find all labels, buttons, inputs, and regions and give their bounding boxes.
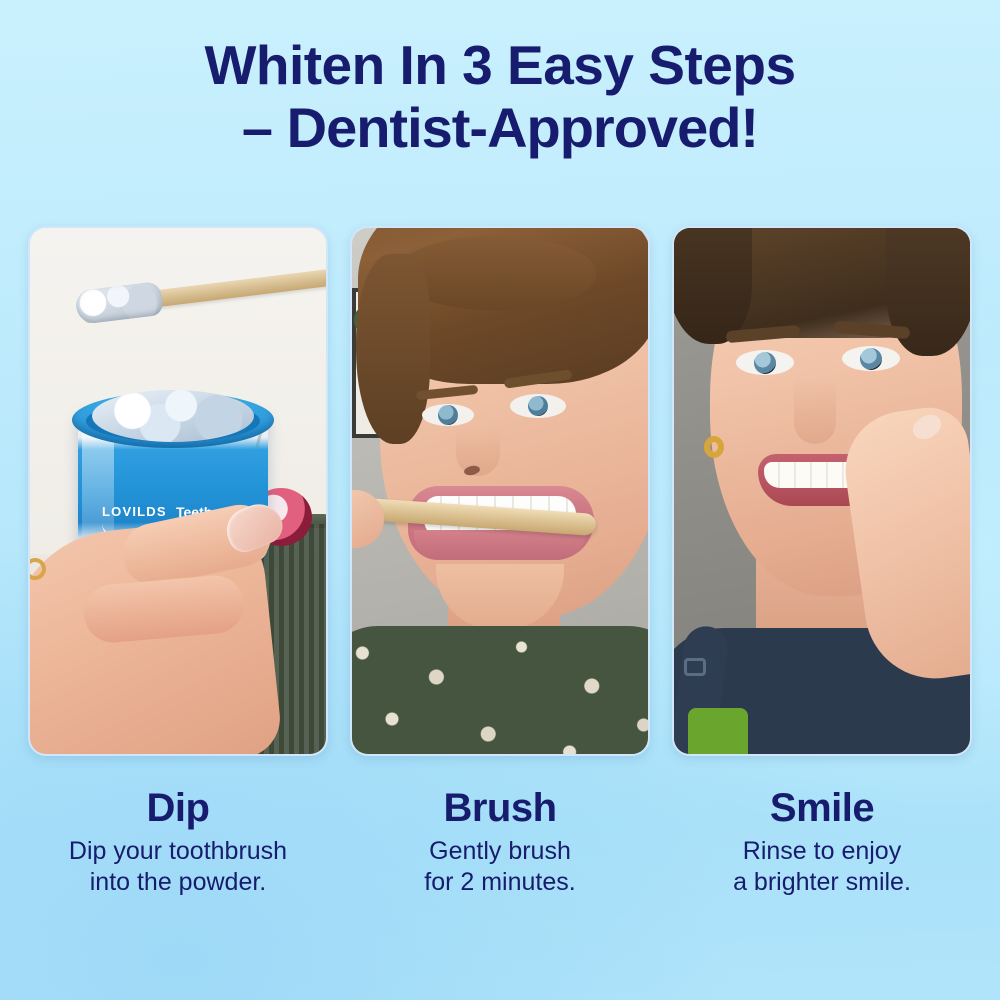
step-photo-row: LOVILDS Teeth Whitening Powder — [0, 226, 1000, 756]
floral-pattern — [352, 626, 648, 754]
eye-left — [736, 350, 794, 375]
green-fabric-patch — [688, 708, 748, 754]
step-desc-smile-line-1: Rinse to enjoy — [657, 836, 987, 867]
nose — [794, 378, 836, 444]
page-title: Whiten In 3 Easy Steps – Dentist-Approve… — [0, 34, 1000, 160]
step-desc-smile: Rinse to enjoy a brighter smile. — [657, 836, 987, 898]
iris-right — [528, 396, 548, 416]
promo-infographic: Whiten In 3 Easy Steps – Dentist-Approve… — [0, 0, 1000, 1000]
step-desc-brush-line-2: for 2 minutes. — [335, 867, 665, 898]
lower-lip — [414, 530, 586, 560]
gold-earring-icon — [704, 436, 724, 458]
headline-line-2: – Dentist-Approved! — [0, 96, 1000, 160]
step-title-smile: Smile — [657, 785, 987, 831]
step-desc-dip-line-2: into the powder. — [13, 867, 343, 898]
step-card-dip[interactable]: LOVILDS Teeth Whitening Powder — [28, 226, 328, 756]
step-card-brush[interactable] — [350, 226, 650, 756]
headline-line-1: Whiten In 3 Easy Steps — [0, 34, 1000, 96]
eye-right — [842, 346, 900, 371]
step-title-brush: Brush — [335, 785, 665, 831]
caption-dip: Dip Dip your toothbrush into the powder. — [13, 785, 343, 898]
floral-blouse — [352, 626, 648, 754]
step-photo-dip: LOVILDS Teeth Whitening Powder — [30, 228, 326, 754]
step-desc-dip-line-1: Dip your toothbrush — [13, 836, 343, 867]
iris-left — [754, 352, 776, 374]
caption-smile: Smile Rinse to enjoy a brighter smile. — [657, 785, 987, 898]
step-card-smile[interactable] — [672, 226, 972, 756]
eye-right — [510, 394, 566, 418]
step-desc-brush: Gently brush for 2 minutes. — [335, 836, 665, 898]
strap-clip-icon — [684, 658, 706, 676]
iris-left — [438, 405, 458, 425]
step-desc-brush-line-1: Gently brush — [335, 836, 665, 867]
step-desc-dip: Dip your toothbrush into the powder. — [13, 836, 343, 898]
iris-right — [860, 348, 882, 370]
step-photo-smile — [674, 228, 970, 754]
step-photo-brush — [352, 228, 648, 754]
eye-left — [422, 404, 474, 426]
blue-powder — [92, 390, 254, 442]
step-title-dip: Dip — [13, 785, 343, 831]
hair-left-side — [674, 228, 752, 344]
side-hair — [356, 254, 430, 444]
step-desc-smile-line-2: a brighter smile. — [657, 867, 987, 898]
caption-brush: Brush Gently brush for 2 minutes. — [335, 785, 665, 898]
